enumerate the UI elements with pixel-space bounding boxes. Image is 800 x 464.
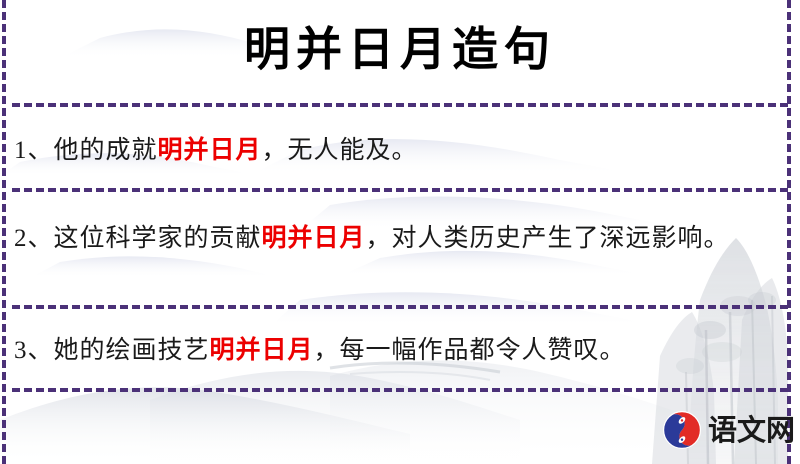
highlighted-idiom: 明并日月 <box>210 337 314 364</box>
sentence-index: 1、 <box>14 137 54 164</box>
divider-1 <box>12 188 788 192</box>
highlighted-idiom: 明并日月 <box>158 137 262 164</box>
sentence-index: 2、 <box>14 225 54 252</box>
yinyang-circle-icon <box>662 410 702 450</box>
page-title-wrap: 明并日月造句 <box>0 18 800 80</box>
list-item: 1、他的成就明并日月，无人能及。 <box>14 130 774 171</box>
site-name: 语文网 <box>708 416 795 445</box>
sentence-text-after: ，无人能及。 <box>262 137 418 164</box>
sentence-text-before: 他的成就 <box>54 137 158 164</box>
divider-2 <box>12 305 788 309</box>
sentence-text-before: 她的绘画技艺 <box>54 337 210 364</box>
page-root: 明并日月造句 1、他的成就明并日月，无人能及。 2、这位科学家的贡献明并日月，对… <box>0 0 800 464</box>
list-item: 2、这位科学家的贡献明并日月，对人类历史产生了深远影响。 <box>14 218 774 259</box>
sentence-index: 3、 <box>14 337 54 364</box>
highlighted-idiom: 明并日月 <box>262 225 366 252</box>
list-item: 3、她的绘画技艺明并日月，每一幅作品都令人赞叹。 <box>14 330 774 371</box>
sentence-text-after: ，每一幅作品都令人赞叹。 <box>314 337 626 364</box>
site-watermark-logo: 语文网 <box>662 410 795 450</box>
divider-bottom <box>12 388 788 392</box>
sentence-text-after: ，对人类历史产生了深远影响。 <box>366 225 730 252</box>
page-title: 明并日月造句 <box>0 18 800 80</box>
divider-top <box>12 103 788 107</box>
sentence-text-before: 这位科学家的贡献 <box>54 225 262 252</box>
